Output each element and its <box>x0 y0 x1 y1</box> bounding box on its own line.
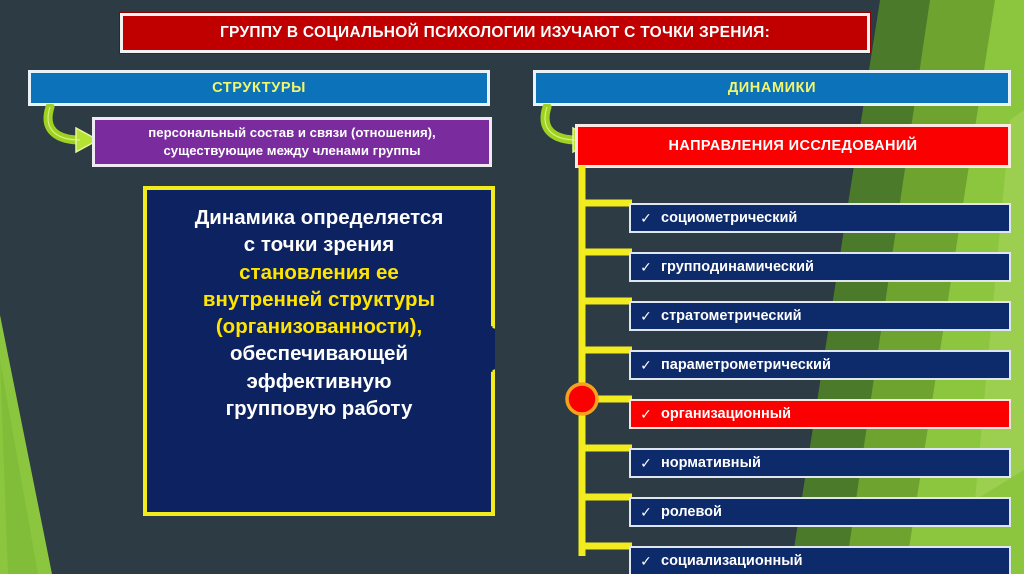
check-icon: ✓ <box>631 358 661 372</box>
list-item-label: ролевой <box>661 504 722 520</box>
structure-description-line-1: персональный состав и связи (отношения), <box>148 124 435 142</box>
list-item-groupdynamic[interactable]: ✓ групподинамический <box>629 252 1011 282</box>
green-shape-left-wedge <box>0 315 52 574</box>
callout-line-5: (организованности), <box>151 313 487 340</box>
list-item-parametrometric[interactable]: ✓ параметрометрический <box>629 350 1011 380</box>
check-icon: ✓ <box>631 505 661 519</box>
callout-line-2: с точки зрения <box>151 231 487 258</box>
check-icon: ✓ <box>631 211 661 225</box>
callout-line-4: внутренней структуры <box>151 286 487 313</box>
callout-line-7: эффективную <box>151 368 487 395</box>
list-item-label: стратометрический <box>661 308 802 324</box>
list-item-stratometric[interactable]: ✓ стратометрический <box>629 301 1011 331</box>
list-item-label: организационный <box>661 406 791 422</box>
header-dynamics: ДИНАМИКИ <box>533 70 1011 106</box>
list-item-label: нормативный <box>661 455 761 471</box>
header-structure: СТРУКТУРЫ <box>28 70 490 106</box>
list-item-sociometric[interactable]: ✓ социометрический <box>629 203 1011 233</box>
structure-description-line-2: существующие между членами группы <box>163 142 420 160</box>
dynamics-callout: Динамика определяется с точки зрения ста… <box>143 186 495 516</box>
callout-line-8: групповую работу <box>151 395 487 422</box>
list-item-label: параметрометрический <box>661 357 831 373</box>
check-icon: ✓ <box>631 407 661 421</box>
list-item-label: социализационный <box>661 553 803 569</box>
callout-line-1: Динамика определяется <box>151 204 487 231</box>
list-item-socialization[interactable]: ✓ социализационный <box>629 546 1011 574</box>
slide-title: ГРУППУ В СОЦИАЛЬНОЙ ПСИХОЛОГИИ ИЗУЧАЮТ С… <box>120 13 870 53</box>
callout-line-6: обеспечивающей <box>151 340 487 367</box>
list-item-organizational[interactable]: ✓ организационный <box>629 399 1011 429</box>
green-shape-left-wedge-dark <box>0 360 38 574</box>
dynamics-callout-text: Динамика определяется с точки зрения ста… <box>151 204 487 422</box>
structure-description: персональный состав и связи (отношения),… <box>92 117 492 167</box>
red-circle-marker-icon <box>567 384 597 414</box>
check-icon: ✓ <box>631 260 661 274</box>
check-icon: ✓ <box>631 456 661 470</box>
callout-line-3: становления ее <box>151 259 487 286</box>
check-icon: ✓ <box>631 554 661 568</box>
list-item-label: социометрический <box>661 210 797 226</box>
slide-canvas: ГРУППУ В СОЦИАЛЬНОЙ ПСИХОЛОГИИ ИЗУЧАЮТ С… <box>0 0 1024 574</box>
callout-arrow-outline <box>493 326 495 372</box>
research-directions-list: ✓ социометрический ✓ групподинамический … <box>629 188 1011 570</box>
list-item-normative[interactable]: ✓ нормативный <box>629 448 1011 478</box>
list-item-label: групподинамический <box>661 259 814 275</box>
list-item-role[interactable]: ✓ ролевой <box>629 497 1011 527</box>
check-icon: ✓ <box>631 309 661 323</box>
